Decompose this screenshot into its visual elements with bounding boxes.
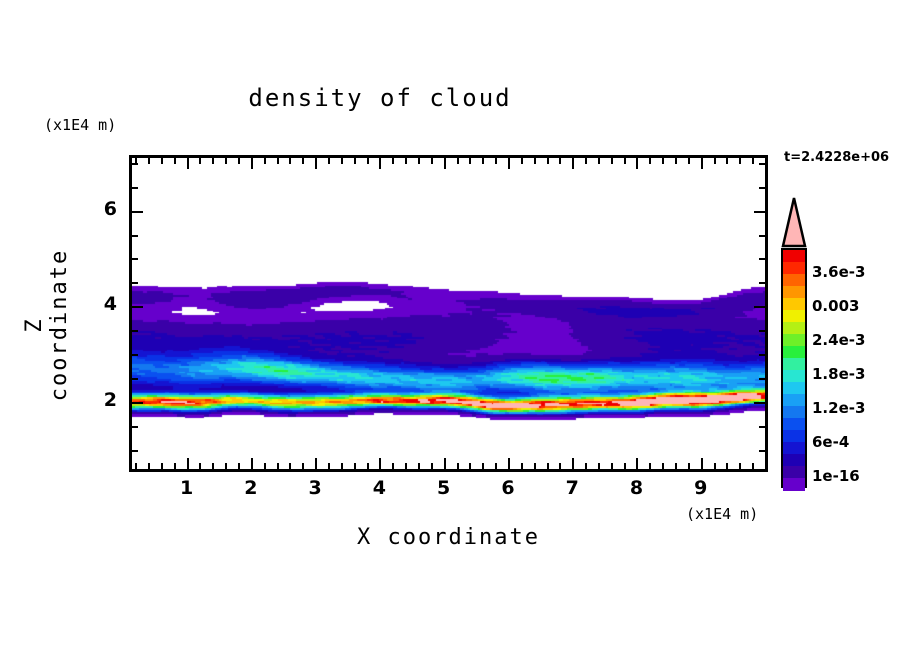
x-minor-tick	[714, 463, 716, 469]
x-minor-tick	[225, 463, 227, 469]
x-minor-tick-top	[714, 158, 716, 164]
x-minor-tick	[341, 463, 343, 469]
y-major-tick	[132, 402, 143, 404]
colorbar-tick-label: 6e-4	[812, 433, 849, 451]
x-major-tick	[444, 458, 446, 469]
colorbar-tick-label: 2.4e-3	[812, 331, 865, 349]
x-tick-label: 7	[560, 477, 584, 499]
colorbar-tick-label: 1e-16	[812, 467, 860, 485]
x-minor-tick	[649, 463, 651, 469]
x-axis-label: X coordinate	[129, 525, 768, 550]
x-minor-tick	[598, 463, 600, 469]
x-minor-tick-top	[598, 158, 600, 164]
y-minor-tick-right	[759, 282, 765, 284]
x-minor-tick-top	[662, 158, 664, 164]
x-tick-label: 4	[367, 477, 391, 499]
x-minor-tick	[688, 463, 690, 469]
y-axis-unit-label: (x1E4 m)	[44, 116, 116, 134]
colorbar-tick-label: 0.003	[812, 297, 859, 315]
x-minor-tick	[289, 463, 291, 469]
x-minor-tick-top	[341, 158, 343, 164]
x-major-tick-top	[636, 158, 638, 169]
y-minor-tick-right	[759, 378, 765, 380]
x-major-tick	[572, 458, 574, 469]
colorbar-tick-label: 3.6e-3	[812, 263, 865, 281]
x-minor-tick	[585, 463, 587, 469]
x-minor-tick	[624, 463, 626, 469]
x-major-tick-top	[444, 158, 446, 169]
x-minor-tick-top	[482, 158, 484, 164]
x-minor-tick	[675, 463, 677, 469]
colorbar	[781, 248, 807, 488]
x-major-tick-top	[572, 158, 574, 169]
x-minor-tick-top	[212, 158, 214, 164]
x-minor-tick	[611, 463, 613, 469]
x-minor-tick-top	[277, 158, 279, 164]
x-major-tick	[187, 458, 189, 469]
x-minor-tick-top	[726, 158, 728, 164]
x-minor-tick	[174, 463, 176, 469]
x-minor-tick-top	[174, 158, 176, 164]
y-axis-label: Z coordinate	[22, 245, 72, 405]
y-minor-tick-right	[759, 163, 765, 165]
x-minor-tick-top	[367, 158, 369, 164]
x-minor-tick	[752, 463, 754, 469]
x-minor-tick-top	[418, 158, 420, 164]
x-minor-tick-top	[611, 158, 613, 164]
colorbar-overflow-arrow	[781, 196, 807, 248]
y-minor-tick	[132, 258, 138, 260]
x-tick-label: 3	[303, 477, 327, 499]
y-minor-tick-right	[759, 187, 765, 189]
x-minor-tick-top	[495, 158, 497, 164]
y-tick-label: 6	[93, 198, 117, 220]
x-minor-tick-top	[739, 158, 741, 164]
x-minor-tick-top	[392, 158, 394, 164]
x-minor-tick-top	[354, 158, 356, 164]
x-minor-tick	[405, 463, 407, 469]
x-minor-tick-top	[585, 158, 587, 164]
y-major-tick-right	[754, 402, 765, 404]
contour-field	[132, 158, 765, 469]
y-minor-tick	[132, 282, 138, 284]
y-minor-tick	[132, 235, 138, 237]
x-minor-tick-top	[675, 158, 677, 164]
y-tick-label: 2	[93, 389, 117, 411]
x-major-tick	[508, 458, 510, 469]
x-minor-tick	[418, 463, 420, 469]
x-major-tick	[315, 458, 317, 469]
x-minor-tick	[367, 463, 369, 469]
x-minor-tick	[161, 463, 163, 469]
y-minor-tick	[132, 378, 138, 380]
x-minor-tick-top	[238, 158, 240, 164]
x-minor-tick	[302, 463, 304, 469]
x-minor-tick-top	[431, 158, 433, 164]
x-major-tick	[379, 458, 381, 469]
x-minor-tick	[469, 463, 471, 469]
y-minor-tick	[132, 426, 138, 428]
x-major-tick-top	[508, 158, 510, 169]
x-minor-tick	[264, 463, 266, 469]
x-tick-label: 6	[496, 477, 520, 499]
x-minor-tick-top	[469, 158, 471, 164]
x-minor-tick	[559, 463, 561, 469]
x-major-tick-top	[187, 158, 189, 169]
x-minor-tick-top	[225, 158, 227, 164]
y-minor-tick-right	[759, 330, 765, 332]
y-minor-tick	[132, 354, 138, 356]
x-minor-tick	[199, 463, 201, 469]
x-tick-label: 8	[624, 477, 648, 499]
time-annotation: t=2.4228e+06	[784, 150, 889, 165]
x-major-tick-top	[701, 158, 703, 169]
y-minor-tick-right	[759, 426, 765, 428]
x-minor-tick	[328, 463, 330, 469]
x-minor-tick	[135, 463, 137, 469]
x-major-tick	[636, 458, 638, 469]
y-minor-tick	[132, 163, 138, 165]
y-minor-tick-right	[759, 258, 765, 260]
x-minor-tick	[726, 463, 728, 469]
y-tick-label: 4	[93, 293, 117, 315]
y-minor-tick-right	[759, 235, 765, 237]
x-tick-label: 9	[689, 477, 713, 499]
x-major-tick-top	[379, 158, 381, 169]
x-minor-tick	[457, 463, 459, 469]
x-minor-tick-top	[405, 158, 407, 164]
x-minor-tick	[212, 463, 214, 469]
y-minor-tick	[132, 187, 138, 189]
x-minor-tick-top	[289, 158, 291, 164]
y-minor-tick	[132, 330, 138, 332]
x-minor-tick-top	[457, 158, 459, 164]
x-tick-label: 2	[239, 477, 263, 499]
x-minor-tick-top	[688, 158, 690, 164]
x-tick-label: 5	[432, 477, 456, 499]
x-minor-tick-top	[302, 158, 304, 164]
colorbar-tick-label: 1.2e-3	[812, 399, 865, 417]
y-minor-tick-right	[759, 354, 765, 356]
x-major-tick-top	[315, 158, 317, 169]
page-title: density of cloud	[0, 84, 760, 112]
y-minor-tick	[132, 450, 138, 452]
y-major-tick-right	[754, 211, 765, 213]
y-minor-tick-right	[759, 450, 765, 452]
x-minor-tick	[238, 463, 240, 469]
y-major-tick	[132, 306, 143, 308]
colorbar-tick-label: 1.8e-3	[812, 365, 865, 383]
x-minor-tick	[495, 463, 497, 469]
x-minor-tick	[534, 463, 536, 469]
x-minor-tick	[392, 463, 394, 469]
y-major-tick-right	[754, 306, 765, 308]
x-minor-tick-top	[534, 158, 536, 164]
x-major-tick	[251, 458, 253, 469]
x-minor-tick-top	[328, 158, 330, 164]
x-minor-tick-top	[624, 158, 626, 164]
x-minor-tick-top	[199, 158, 201, 164]
x-minor-tick	[431, 463, 433, 469]
x-major-tick	[701, 458, 703, 469]
x-minor-tick-top	[521, 158, 523, 164]
x-minor-tick-top	[559, 158, 561, 164]
x-minor-tick-top	[264, 158, 266, 164]
x-minor-tick	[739, 463, 741, 469]
x-minor-tick-top	[547, 158, 549, 164]
x-major-tick-top	[251, 158, 253, 169]
x-minor-tick	[662, 463, 664, 469]
x-minor-tick-top	[649, 158, 651, 164]
x-minor-tick-top	[161, 158, 163, 164]
colorbar-band	[783, 478, 805, 491]
x-tick-label: 1	[175, 477, 199, 499]
plot-area	[129, 155, 768, 472]
x-minor-tick-top	[752, 158, 754, 164]
x-minor-tick	[547, 463, 549, 469]
figure-canvas: density of cloud (x1E4 m) (x1E4 m) X coo…	[0, 0, 904, 654]
x-minor-tick	[521, 463, 523, 469]
x-minor-tick-top	[148, 158, 150, 164]
y-major-tick	[132, 211, 143, 213]
x-minor-tick	[277, 463, 279, 469]
x-minor-tick	[354, 463, 356, 469]
x-minor-tick	[148, 463, 150, 469]
x-minor-tick	[482, 463, 484, 469]
x-axis-unit-label: (x1E4 m)	[686, 505, 758, 523]
